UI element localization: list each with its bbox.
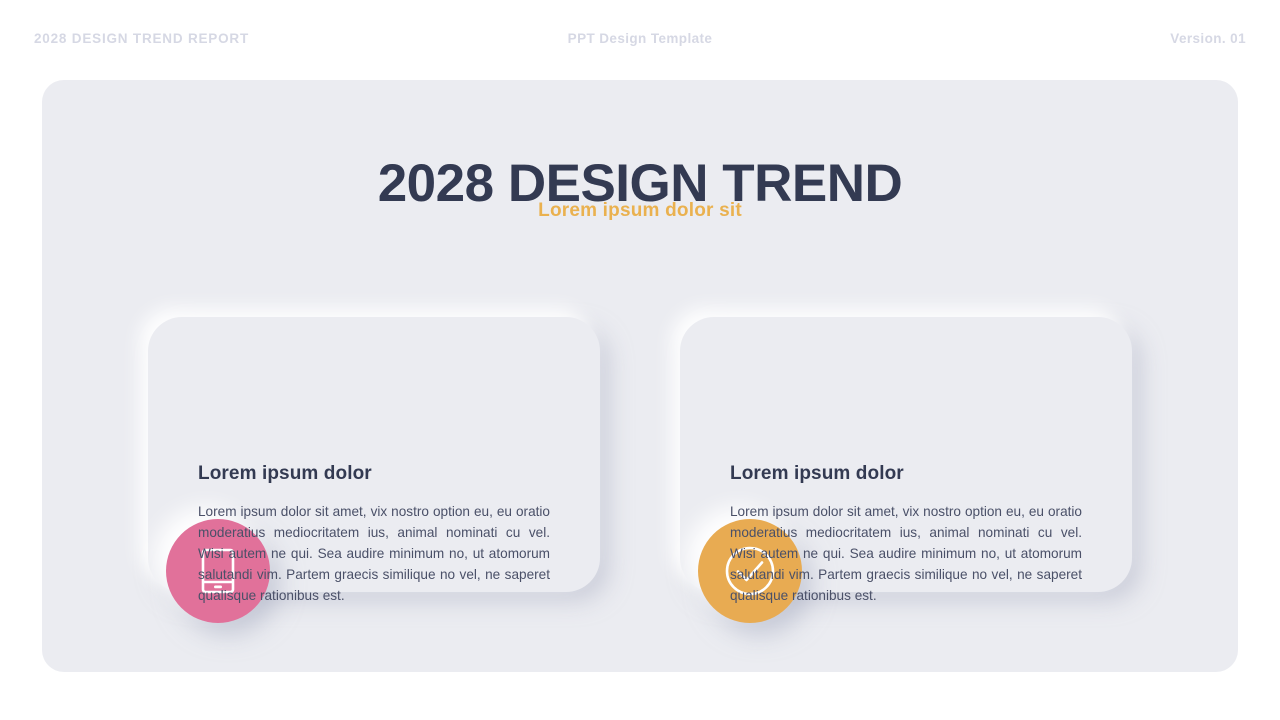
feature-card-2[interactable]: Lorem ipsum dolor Lorem ipsum dolor sit … [680,317,1132,592]
slide-panel: Lorem ipsum dolor sit 2028 DESIGN TREND … [42,80,1238,672]
template-label: PPT Design Template [0,31,1280,46]
feature-card-1-text: Lorem ipsum dolor sit amet, vix nostro o… [198,501,550,606]
feature-card-1-body: Lorem ipsum dolor Lorem ipsum dolor sit … [198,463,568,606]
feature-card-2-title: Lorem ipsum dolor [730,463,1100,485]
page-title: 2028 DESIGN TREND [42,154,1238,215]
feature-card-1-title: Lorem ipsum dolor [198,463,568,485]
feature-card-1[interactable]: Lorem ipsum dolor Lorem ipsum dolor sit … [148,317,600,592]
feature-card-2-body: Lorem ipsum dolor Lorem ipsum dolor sit … [730,463,1100,606]
feature-card-2-text: Lorem ipsum dolor sit amet, vix nostro o… [730,501,1082,606]
slide-header-bar: 2028 DESIGN TREND REPORT PPT Design Temp… [0,0,1280,78]
version-label: Version. 01 [1170,31,1246,46]
